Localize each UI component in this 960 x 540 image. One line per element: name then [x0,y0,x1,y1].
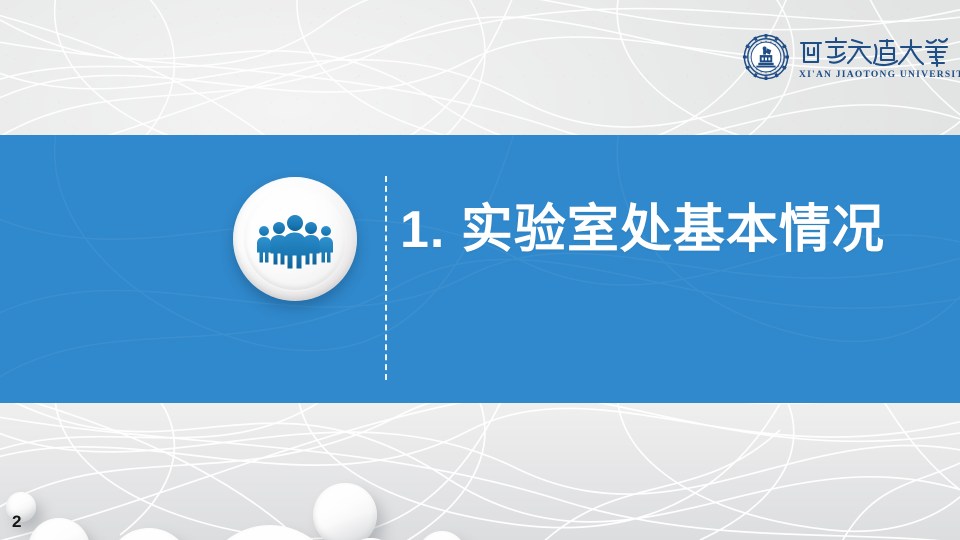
slide-canvas: 1. 实验室处基本情况 [0,0,960,540]
decorative-disc-center [313,483,377,540]
dashed-vertical-divider [385,176,387,380]
section-title: 1. 实验室处基本情况 [400,190,940,270]
university-logo: XI'AN JIAOTONG UNIVERSITY [742,27,948,87]
logo-english-name: XI'AN JIAOTONG UNIVERSITY [799,70,960,80]
logo-chinese-name [797,35,949,69]
section-icon-badge [233,177,357,301]
badge-face [244,188,346,290]
xjtu-seal-icon [742,33,790,81]
group-of-people-icon [255,209,335,269]
page-number: 2 [12,512,21,532]
logo-wordmark: XI'AN JIAOTONG UNIVERSITY [797,35,960,80]
